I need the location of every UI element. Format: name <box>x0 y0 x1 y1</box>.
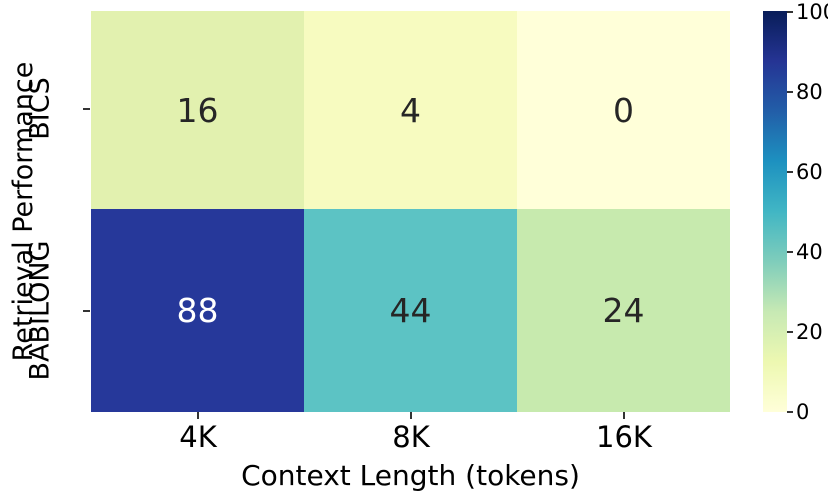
colorbar-tick-mark-0 <box>787 411 793 413</box>
heatmap-plot-area: 16 4 0 88 44 24 <box>91 11 730 412</box>
cell-value: 0 <box>613 94 634 127</box>
heatmap-cell-babilong-4k[interactable]: 88 <box>91 209 304 412</box>
x-axis-label: Context Length (tokens) <box>91 459 730 492</box>
x-tick-mark-16k <box>623 412 625 419</box>
colorbar-tick-label-40: 40 <box>796 242 823 263</box>
colorbar-tick-label-80: 80 <box>796 82 823 103</box>
colorbar-tick-mark-60 <box>787 171 793 173</box>
colorbar-tick-label-0: 0 <box>796 402 809 423</box>
y-tick-mark-bics <box>83 108 90 110</box>
cell-value: 4 <box>400 94 421 127</box>
y-tick-label-bics: BICS <box>27 64 54 154</box>
x-tick-mark-8k <box>410 412 412 419</box>
colorbar-tick-mark-100 <box>787 11 793 13</box>
cell-value: 24 <box>603 294 645 327</box>
cell-value: 16 <box>177 94 219 127</box>
colorbar-tick-label-60: 60 <box>796 162 823 183</box>
x-tick-label-16k: 16K <box>564 420 684 454</box>
x-tick-label-8k: 8K <box>351 420 471 454</box>
colorbar-gradient <box>763 11 787 412</box>
heatmap-cell-bics-16k[interactable]: 0 <box>517 11 730 209</box>
heatmap-cell-bics-8k[interactable]: 4 <box>304 11 517 209</box>
y-tick-label-babilong: BABILONG <box>27 225 54 397</box>
colorbar-tick-mark-80 <box>787 91 793 93</box>
heatmap-cell-bics-4k[interactable]: 16 <box>91 11 304 209</box>
x-tick-label-4k: 4K <box>138 420 258 454</box>
cell-value: 44 <box>390 294 432 327</box>
colorbar-tick-label-20: 20 <box>796 322 823 343</box>
heatmap-figure: 16 4 0 88 44 24 Retrieval Performance BI… <box>0 0 828 500</box>
colorbar-tick-label-100: 100 <box>796 2 828 23</box>
colorbar-tick-mark-40 <box>787 251 793 253</box>
y-tick-mark-babilong <box>83 310 90 312</box>
heatmap-cell-babilong-8k[interactable]: 44 <box>304 209 517 412</box>
heatmap-cell-babilong-16k[interactable]: 24 <box>517 209 730 412</box>
x-tick-mark-4k <box>197 412 199 419</box>
colorbar[interactable] <box>763 11 787 412</box>
colorbar-tick-mark-20 <box>787 331 793 333</box>
cell-value: 88 <box>177 294 219 327</box>
